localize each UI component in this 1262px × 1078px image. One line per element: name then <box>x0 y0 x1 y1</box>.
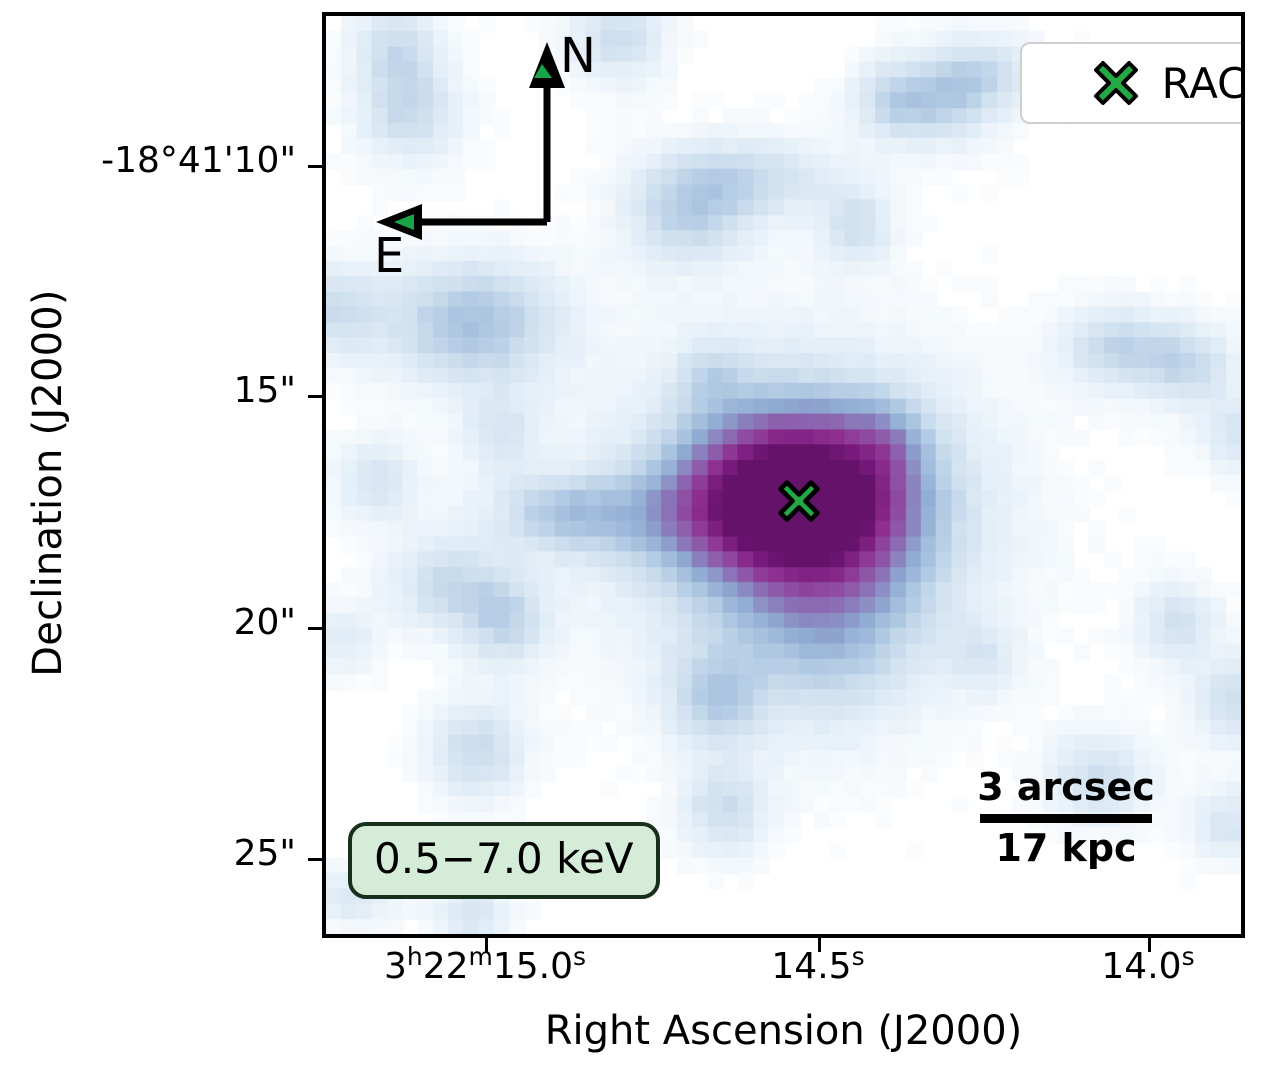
y-tick-label: -18°41'10" <box>0 143 296 179</box>
y-tick-mark <box>308 395 322 398</box>
legend-entry-label: RACS J0322−18 <box>1142 59 1245 108</box>
xray-image-figure: Declination (J2000) N E RACS J0322−18 <box>0 0 1262 1078</box>
y-axis-label: Declination (J2000) <box>25 223 71 743</box>
compass-north-label: N <box>560 32 596 80</box>
scale-bar-arcsec-label: 3 arcsec <box>966 768 1166 808</box>
legend-box[interactable]: RACS J0322−18 <box>1020 42 1245 124</box>
x-tick-mark <box>485 938 488 952</box>
y-tick-mark <box>308 858 322 861</box>
y-tick-label: 25" <box>0 836 296 872</box>
y-tick-label: 15" <box>0 373 296 409</box>
compass-east-label: E <box>374 232 404 280</box>
energy-band-badge: 0.5−7.0 keV <box>348 822 660 899</box>
scale-bar-line <box>980 814 1152 823</box>
scale-bar: 3 arcsec 17 kpc <box>966 768 1166 869</box>
y-tick-mark <box>308 165 322 168</box>
x-tick-mark <box>1148 938 1151 952</box>
source-x-marker-icon[interactable] <box>775 477 823 525</box>
y-tick-mark <box>308 627 322 630</box>
scale-bar-kpc-label: 17 kpc <box>966 829 1166 869</box>
y-tick-label: 20" <box>0 605 296 641</box>
x-tick-mark <box>818 938 821 952</box>
x-cross-marker-icon <box>1090 57 1142 109</box>
x-axis-label: Right Ascension (J2000) <box>322 1008 1245 1054</box>
